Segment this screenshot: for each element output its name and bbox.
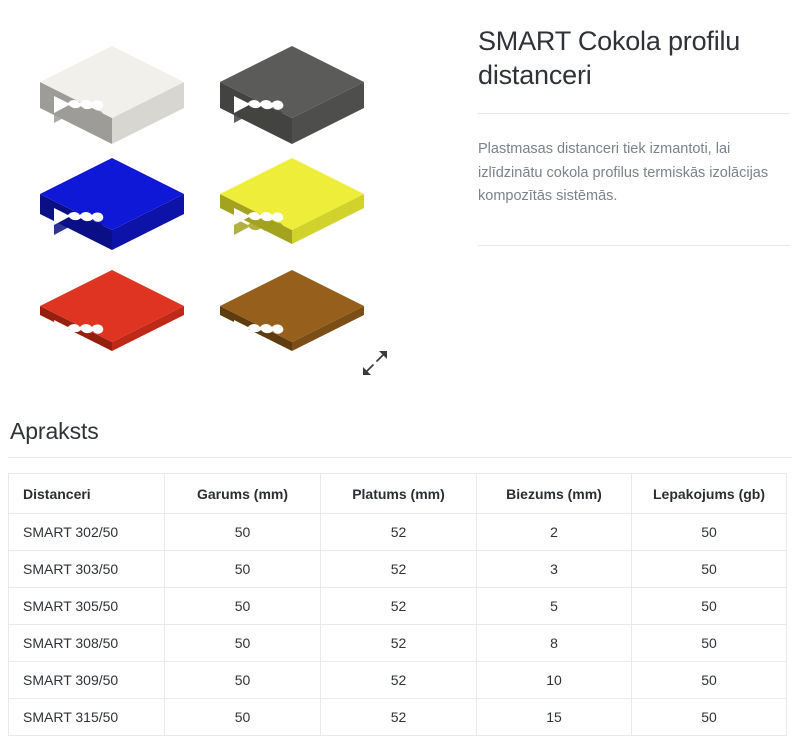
description-divider xyxy=(478,245,790,246)
table-cell-r0-c3: 2 xyxy=(477,514,632,551)
spacer-yellow-render xyxy=(204,150,380,262)
table-cell-r2-c3: 5 xyxy=(477,588,632,625)
table-cell-r3-c2: 52 xyxy=(321,625,477,662)
table-cell-r5-c4: 50 xyxy=(632,699,787,736)
table-cell-r5-c3: 15 xyxy=(477,699,632,736)
product-short-description: Plastmasas distanceri tiek izmantoti, la… xyxy=(478,114,792,208)
product-top-section: SMART Cokola profilu distanceri Plastmas… xyxy=(0,0,800,410)
table-cell-r4-c3: 10 xyxy=(477,662,632,699)
table-cell-r1-c0: SMART 303/50 xyxy=(9,551,165,588)
spacer-render-grid xyxy=(22,38,382,358)
spacer-brown-render xyxy=(204,262,380,374)
product-title: SMART Cokola profilu distanceri xyxy=(478,24,790,92)
table-header-cell-2: Platums (mm) xyxy=(321,474,477,514)
table-cell-r0-c0: SMART 302/50 xyxy=(9,514,165,551)
table-cell-r4-c0: SMART 309/50 xyxy=(9,662,165,699)
section-divider xyxy=(8,457,792,458)
specifications-table: DistanceriGarums (mm)Platums (mm)Biezums… xyxy=(8,473,787,736)
table-cell-r4-c4: 50 xyxy=(632,662,787,699)
table-cell-r2-c0: SMART 305/50 xyxy=(9,588,165,625)
spacer-blue[interactable] xyxy=(22,150,202,262)
table-cell-r0-c2: 52 xyxy=(321,514,477,551)
spacer-yellow[interactable] xyxy=(202,150,382,262)
table-row: SMART 315/5050521550 xyxy=(9,699,787,736)
table-row: SMART 308/505052850 xyxy=(9,625,787,662)
table-row: SMART 305/505052550 xyxy=(9,588,787,625)
spacer-red[interactable] xyxy=(22,262,202,374)
table-cell-r1-c2: 52 xyxy=(321,551,477,588)
table-cell-r1-c1: 50 xyxy=(165,551,321,588)
table-row: SMART 309/5050521050 xyxy=(9,662,787,699)
product-image-gallery[interactable] xyxy=(0,0,470,410)
table-cell-r0-c4: 50 xyxy=(632,514,787,551)
table-cell-r5-c0: SMART 315/50 xyxy=(9,699,165,736)
table-header-cell-1: Garums (mm) xyxy=(165,474,321,514)
table-cell-r2-c2: 52 xyxy=(321,588,477,625)
spacer-white-render xyxy=(24,38,200,150)
table-cell-r3-c3: 8 xyxy=(477,625,632,662)
table-header-row: DistanceriGarums (mm)Platums (mm)Biezums… xyxy=(9,474,787,514)
table-header-cell-0: Distanceri xyxy=(9,474,165,514)
product-detail-page: SMART Cokola profilu distanceri Plastmas… xyxy=(0,0,800,750)
table-cell-r2-c1: 50 xyxy=(165,588,321,625)
table-cell-r5-c1: 50 xyxy=(165,699,321,736)
spacer-blue-render xyxy=(24,150,200,262)
table-header-cell-4: Lepakojums (gb) xyxy=(632,474,787,514)
table-cell-r4-c2: 52 xyxy=(321,662,477,699)
table-head: DistanceriGarums (mm)Platums (mm)Biezums… xyxy=(9,474,787,514)
expand-arrows-icon[interactable] xyxy=(358,346,392,380)
spacer-brown[interactable] xyxy=(202,262,382,374)
description-section: Apraksts DistanceriGarums (mm)Platums (m… xyxy=(0,410,800,736)
table-cell-r0-c1: 50 xyxy=(165,514,321,551)
table-body: SMART 302/505052250SMART 303/505052350SM… xyxy=(9,514,787,736)
spacer-red-render xyxy=(24,262,200,374)
spacer-white[interactable] xyxy=(22,38,202,150)
section-heading-apraksts: Apraksts xyxy=(8,410,792,457)
table-cell-r1-c4: 50 xyxy=(632,551,787,588)
spacer-dark-grey[interactable] xyxy=(202,38,382,150)
table-cell-r3-c0: SMART 308/50 xyxy=(9,625,165,662)
table-cell-r1-c3: 3 xyxy=(477,551,632,588)
table-header-cell-3: Biezums (mm) xyxy=(477,474,632,514)
table-cell-r3-c1: 50 xyxy=(165,625,321,662)
product-info-panel: SMART Cokola profilu distanceri Plastmas… xyxy=(470,0,800,410)
spacer-dark-grey-render xyxy=(204,38,380,150)
table-row: SMART 303/505052350 xyxy=(9,551,787,588)
table-cell-r3-c4: 50 xyxy=(632,625,787,662)
table-cell-r2-c4: 50 xyxy=(632,588,787,625)
table-cell-r4-c1: 50 xyxy=(165,662,321,699)
table-row: SMART 302/505052250 xyxy=(9,514,787,551)
table-cell-r5-c2: 52 xyxy=(321,699,477,736)
